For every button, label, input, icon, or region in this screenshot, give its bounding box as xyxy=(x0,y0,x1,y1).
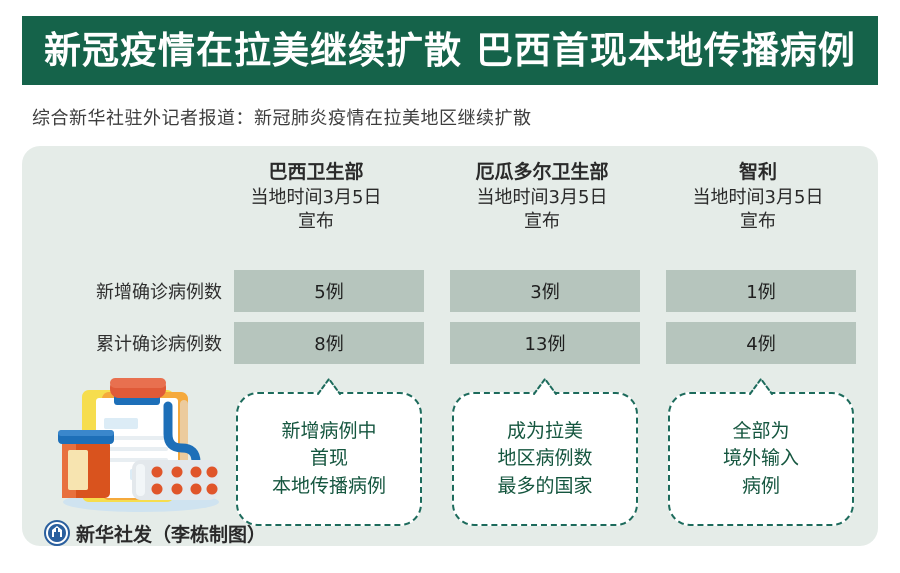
column-announce-label: 宣布 xyxy=(216,210,416,234)
callout-chile: 全部为 境外输入 病例 xyxy=(668,392,854,526)
title-bar: 新冠疫情在拉美继续扩散 巴西首现本地传播病例 xyxy=(22,16,878,85)
callout-text: 全部为 境外输入 病例 xyxy=(715,418,807,501)
callout-text: 成为拉美 地区病例数 最多的国家 xyxy=(489,418,600,501)
callout-pointer-icon xyxy=(315,377,343,395)
cell-new-cases-ecuador: 3例 xyxy=(450,270,640,312)
callout-line: 首现 xyxy=(272,445,386,473)
cell-total-cases-ecuador: 13例 xyxy=(450,322,640,364)
column-org-label: 巴西卫生部 xyxy=(216,160,416,186)
callout-line: 本地传播病例 xyxy=(272,473,386,501)
column-announce-label: 宣布 xyxy=(658,210,858,234)
callout-line: 地区病例数 xyxy=(497,445,592,473)
column-header-brazil: 巴西卫生部 当地时间3月5日 宣布 xyxy=(216,160,416,234)
column-date-label: 当地时间3月5日 xyxy=(442,186,642,210)
xinhua-logo-icon xyxy=(44,520,70,546)
row-label-new-cases: 新增确诊病例数 xyxy=(30,270,222,312)
callout-pointer-icon xyxy=(531,377,559,395)
cell-new-cases-brazil: 5例 xyxy=(234,270,424,312)
row-label-total-cases: 累计确诊病例数 xyxy=(30,322,222,364)
table-row: 新增确诊病例数 5例 3例 1例 xyxy=(22,270,878,312)
column-header-ecuador: 厄瓜多尔卫生部 当地时间3月5日 宣布 xyxy=(442,160,642,234)
credit-text: 新华社发（李栋制图） xyxy=(76,520,266,547)
callout-line: 境外输入 xyxy=(723,445,799,473)
cell-total-cases-chile: 4例 xyxy=(666,322,856,364)
page-title: 新冠疫情在拉美继续扩散 巴西首现本地传播病例 xyxy=(44,32,856,69)
column-header-chile: 智利 当地时间3月5日 宣布 xyxy=(658,160,858,234)
callout-line: 新增病例中 xyxy=(272,418,386,446)
infographic-root: 新冠疫情在拉美继续扩散 巴西首现本地传播病例 综合新华社驻外记者报道：新冠肺炎疫… xyxy=(0,0,900,573)
subtitle: 综合新华社驻外记者报道：新冠肺炎疫情在拉美地区继续扩散 xyxy=(32,104,532,130)
medical-supplies-illustration xyxy=(44,374,234,519)
cell-total-cases-brazil: 8例 xyxy=(234,322,424,364)
data-panel: 巴西卫生部 当地时间3月5日 宣布 厄瓜多尔卫生部 当地时间3月5日 宣布 智利… xyxy=(22,146,878,546)
callout-brazil: 新增病例中 首现 本地传播病例 xyxy=(236,392,422,526)
callout-pointer-icon xyxy=(747,377,775,395)
column-date-label: 当地时间3月5日 xyxy=(216,186,416,210)
column-org-label: 厄瓜多尔卫生部 xyxy=(442,160,642,186)
column-org-label: 智利 xyxy=(658,160,858,186)
cell-new-cases-chile: 1例 xyxy=(666,270,856,312)
callout-line: 最多的国家 xyxy=(497,473,592,501)
callout-text: 新增病例中 首现 本地传播病例 xyxy=(264,418,394,501)
callout-line: 病例 xyxy=(723,473,799,501)
callout-line: 成为拉美 xyxy=(497,418,592,446)
credit-line: 新华社发（李栋制图） xyxy=(44,518,266,548)
callout-line: 全部为 xyxy=(723,418,799,446)
callout-ecuador: 成为拉美 地区病例数 最多的国家 xyxy=(452,392,638,526)
table-row: 累计确诊病例数 8例 13例 4例 xyxy=(22,322,878,364)
column-date-label: 当地时间3月5日 xyxy=(658,186,858,210)
column-announce-label: 宣布 xyxy=(442,210,642,234)
column-header-row: 巴西卫生部 当地时间3月5日 宣布 厄瓜多尔卫生部 当地时间3月5日 宣布 智利… xyxy=(22,146,878,256)
